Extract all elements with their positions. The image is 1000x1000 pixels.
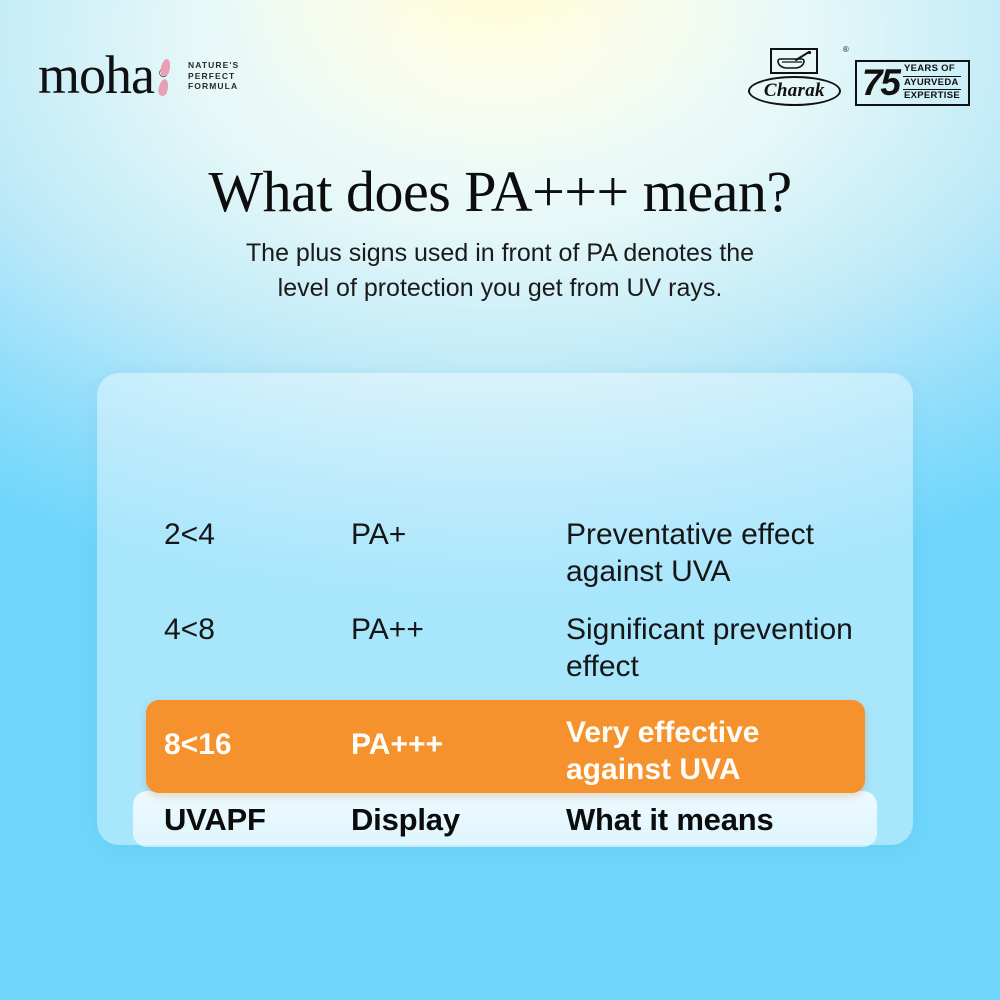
column-header-means: What it means	[566, 802, 774, 837]
page-subtitle: The plus signs used in front of PA denot…	[0, 236, 1000, 306]
cell-display: PA++	[351, 611, 424, 648]
moha-wordmark: moha®	[38, 48, 154, 102]
cell-display: PA+	[351, 516, 406, 553]
cell-uvapf: 2<4	[164, 516, 215, 553]
subtitle-line-2: level of protection you get from UV rays…	[0, 271, 1000, 306]
moha-tagline: NATURE'S PERFECT FORMULA	[188, 60, 239, 92]
pa-rating-card: UVAPF Display What it means 2<4 PA+ Prev…	[97, 373, 913, 845]
cell-uvapf: 4<8	[164, 611, 215, 648]
charak-registered-icon: ®	[843, 45, 849, 54]
cell-uvapf: 8<16	[164, 726, 232, 763]
subtitle-line-1: The plus signs used in front of PA denot…	[0, 236, 1000, 271]
years-expertise-badge: 75 YEARS OF AYURVEDA EXPERTISE	[855, 60, 970, 106]
tagline-line-1: NATURE'S	[188, 60, 239, 71]
moha-logo: moha® NATURE'S PERFECT FORMULA	[38, 48, 239, 102]
mortar-pestle-icon	[770, 48, 818, 74]
cell-means: Very effective against UVA	[566, 714, 866, 788]
cell-means: Significant prevention effect	[566, 611, 906, 685]
charak-logo: ® Charak	[748, 48, 841, 106]
page-title: What does PA+++ mean?	[0, 160, 1000, 224]
years-number: 75	[862, 64, 899, 102]
tagline-line-3: FORMULA	[188, 81, 239, 92]
cell-means: Preventative effect against UVA	[566, 516, 906, 590]
years-line-3: EXPERTISE	[903, 90, 961, 103]
tagline-line-2: PERFECT	[188, 71, 239, 82]
table-row-highlighted: 8<16 PA+++ Very effective against UVA	[146, 700, 865, 793]
moha-petal-icon	[158, 48, 174, 98]
moha-wordmark-text: moha	[38, 45, 154, 105]
column-header-uvapf: UVAPF	[164, 802, 266, 837]
cell-display: PA+++	[351, 726, 443, 763]
certification-badges: ® Charak 75 YEARS OF AYURVED	[748, 48, 970, 106]
years-text-block: YEARS OF AYURVEDA EXPERTISE	[903, 65, 961, 101]
table-header-row: UVAPF Display What it means	[133, 791, 877, 847]
years-line-2: AYURVEDA	[903, 77, 961, 91]
charak-name-oval: Charak	[748, 76, 841, 106]
poster-canvas: moha® NATURE'S PERFECT FORMULA ®	[0, 0, 1000, 1000]
column-header-display: Display	[351, 802, 460, 837]
charak-name-text: Charak	[764, 80, 825, 101]
pa-rating-table: UVAPF Display What it means 2<4 PA+ Prev…	[97, 373, 913, 845]
top-brand-bar: moha® NATURE'S PERFECT FORMULA ®	[0, 0, 1000, 130]
years-line-1: YEARS OF	[903, 63, 961, 77]
